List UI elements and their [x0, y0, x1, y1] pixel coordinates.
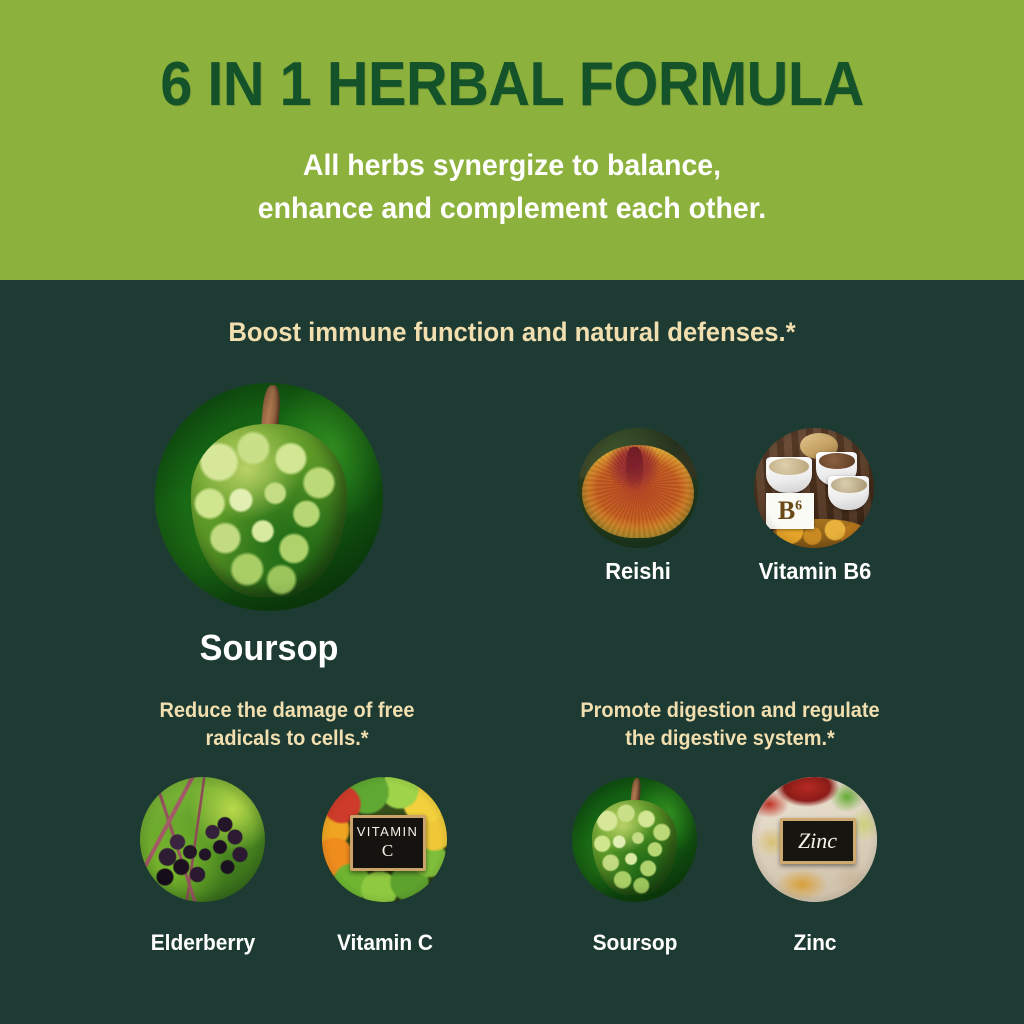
header-subtitle: All herbs synergize to balance, enhance …	[26, 118, 999, 230]
ingredient-tile-elderberry[interactable]: Elderberry	[140, 777, 265, 902]
photo-vignette	[155, 383, 383, 611]
ingredient-tile-soursop-small[interactable]: Soursop	[572, 777, 697, 902]
elderberry-photo	[140, 777, 265, 902]
photo-vignette	[322, 777, 447, 902]
product-infographic: 6 IN 1 HERBAL FORMULA All herbs synergiz…	[0, 0, 1024, 1024]
ingredient-label-reishi: Reishi	[605, 558, 671, 585]
page-title: 6 IN 1 HERBAL FORMULA	[36, 0, 988, 118]
tagline-digestion-line1: Promote digestion and regulate	[521, 697, 939, 725]
photo-vignette	[754, 428, 874, 548]
feature-tile-soursop[interactable]: Soursop	[155, 383, 383, 611]
photo-vignette	[578, 428, 698, 548]
ingredient-tile-reishi[interactable]: Reishi	[578, 428, 698, 548]
reishi-mushroom-photo	[578, 428, 698, 548]
ingredient-label-vitamin-b6: Vitamin B6	[759, 558, 872, 585]
tagline-immune: Boost immune function and natural defens…	[26, 316, 999, 348]
ingredient-label-vitamin-c: Vitamin C	[336, 930, 432, 956]
tagline-digestion-line2: the digestive system.*	[521, 725, 939, 753]
photo-vignette	[752, 777, 877, 902]
tagline-digestion: Promote digestion and regulate the diges…	[521, 697, 939, 753]
ingredient-tile-vitamin-c[interactable]: VITAMIN C Vitamin C	[322, 777, 447, 902]
vitamin-c-foods-photo: VITAMIN C	[322, 777, 447, 902]
tagline-free-radicals-line2: radicals to cells.*	[85, 725, 490, 753]
photo-vignette	[572, 777, 697, 902]
photo-vignette	[140, 777, 265, 902]
zinc-foods-photo: Zinc	[752, 777, 877, 902]
header-band: 6 IN 1 HERBAL FORMULA All herbs synergiz…	[0, 0, 1024, 280]
ingredient-tile-vitamin-b6[interactable]: B6 Vitamin B6	[754, 428, 876, 548]
tagline-free-radicals-line1: Reduce the damage of free	[85, 697, 490, 725]
ingredient-label-zinc: Zinc	[793, 930, 836, 956]
tagline-free-radicals: Reduce the damage of free radicals to ce…	[85, 697, 490, 753]
soursop-fruit-photo	[155, 383, 383, 611]
ingredient-label-elderberry: Elderberry	[150, 930, 255, 956]
feature-label-soursop: Soursop	[200, 627, 339, 669]
ingredient-tile-zinc[interactable]: Zinc Zinc	[752, 777, 877, 902]
header-subtitle-line2: enhance and complement each other.	[26, 187, 999, 230]
header-subtitle-line1: All herbs synergize to balance,	[26, 144, 999, 187]
soursop-fruit-photo	[572, 777, 697, 902]
ingredient-label-soursop-small: Soursop	[592, 930, 677, 956]
vitamin-b6-foods-photo: B6	[754, 428, 874, 548]
